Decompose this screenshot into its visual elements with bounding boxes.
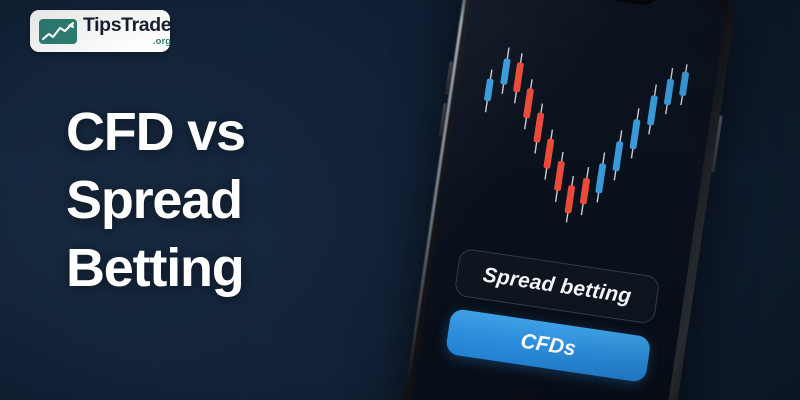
logo-suffix: .org [83,37,171,47]
candlestick-chart [438,12,721,262]
headline-line-3: Betting [66,234,396,302]
phone-notch [542,0,660,7]
banner-image: TipsTrade .org CFD vs Spread Betting Spr… [0,0,800,400]
logo-wordmark: TipsTrade .org [83,16,171,46]
headline-line-2: Spread [66,166,396,234]
phone-mockup: Spread betting CFDs [397,0,739,400]
site-logo[interactable]: TipsTrade .org [30,10,170,52]
app-option-buttons: Spread betting CFDs [445,248,660,383]
page-title: CFD vs Spread Betting [66,98,396,302]
logo-name: TipsTrade [83,16,171,36]
chart-uptrend-icon [39,19,77,44]
headline-line-1: CFD vs [66,98,396,166]
